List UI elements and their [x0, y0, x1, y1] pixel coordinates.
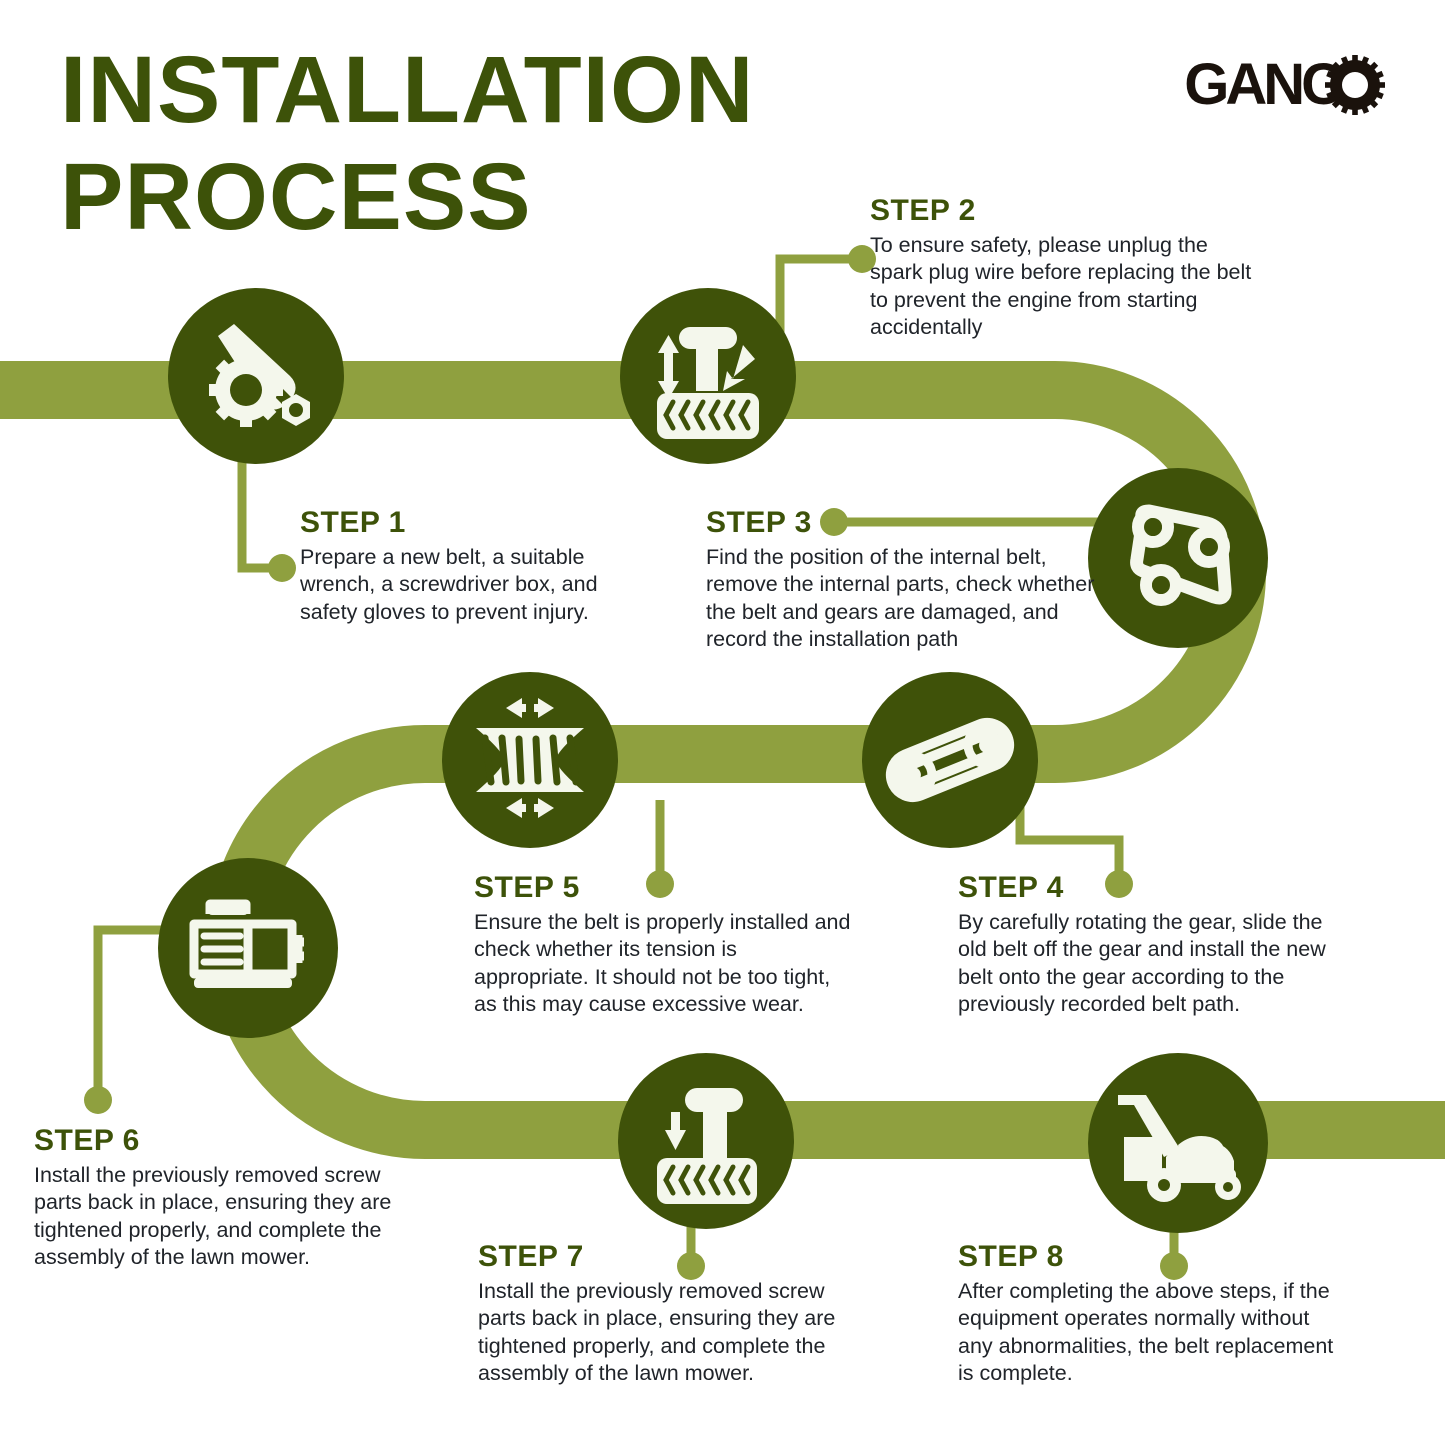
step-2-body: To ensure safety, please unplug the spar… — [870, 232, 1262, 341]
step-7-icon-circle[interactable] — [618, 1053, 794, 1229]
step-3-body: Find the position of the internal belt, … — [706, 544, 1104, 653]
gear-icon — [1323, 53, 1387, 117]
step-5-icon-circle[interactable] — [442, 672, 618, 848]
step-4-text: STEP 4 By carefully rotating the gear, s… — [958, 871, 1348, 1018]
step-6-heading: STEP 6 — [34, 1124, 434, 1158]
infographic-page: INSTALLATION PROCESS GANC — [0, 0, 1445, 1445]
connector-step-1 — [232, 450, 302, 590]
lawn-mower-icon — [1110, 1075, 1246, 1211]
step-6-text: STEP 6 Install the previously removed sc… — [34, 1124, 434, 1271]
step-3-text: STEP 3 Find the position of the internal… — [706, 506, 1104, 653]
title-line-2: PROCESS — [60, 151, 940, 244]
step-1-heading: STEP 1 — [300, 506, 650, 540]
step-8-heading: STEP 8 — [958, 1240, 1348, 1274]
step-5-heading: STEP 5 — [474, 871, 854, 905]
spark-plug-insert-icon — [643, 1078, 769, 1204]
step-6-body: Install the previously removed screw par… — [34, 1162, 434, 1271]
step-8-body: After completing the above steps, if the… — [958, 1278, 1348, 1387]
page-title: INSTALLATION PROCESS — [60, 44, 940, 244]
step-1-body: Prepare a new belt, a suitable wrench, a… — [300, 544, 650, 626]
step-1-text: STEP 1 Prepare a new belt, a suitable wr… — [300, 506, 650, 626]
spark-plug-unplug-icon — [645, 313, 771, 439]
step-6-icon-circle[interactable] — [158, 858, 338, 1038]
step-1-icon-circle[interactable] — [168, 288, 344, 464]
step-7-body: Install the previously removed screw par… — [478, 1278, 873, 1387]
step-5-body: Ensure the belt is properly installed an… — [474, 909, 854, 1018]
title-line-1: INSTALLATION — [60, 44, 940, 137]
step-2-icon-circle[interactable] — [620, 288, 796, 464]
step-8-text: STEP 8 After completing the above steps,… — [958, 1240, 1348, 1387]
step-8-icon-circle[interactable] — [1088, 1053, 1268, 1233]
step-2-text: STEP 2 To ensure safety, please unplug t… — [870, 194, 1262, 341]
brand-logo: GANC — [1184, 52, 1387, 118]
step-4-body: By carefully rotating the gear, slide th… — [958, 909, 1348, 1018]
belt-tension-arrows-icon — [460, 690, 600, 830]
electric-motor-icon — [180, 880, 316, 1016]
step-4-icon-circle[interactable] — [862, 672, 1038, 848]
step-4-heading: STEP 4 — [958, 871, 1348, 905]
belt-routing-three-pulley-icon — [1113, 493, 1243, 623]
step-5-text: STEP 5 Ensure the belt is properly insta… — [474, 871, 854, 1018]
wrench-gear-icon — [194, 314, 318, 438]
step-3-heading: STEP 3 — [706, 506, 1104, 540]
step-2-heading: STEP 2 — [870, 194, 1262, 228]
step-7-text: STEP 7 Install the previously removed sc… — [478, 1240, 873, 1387]
logo-wordmark: GANC — [1184, 56, 1339, 114]
step-3-icon-circle[interactable] — [1088, 468, 1268, 648]
two-pulley-belt-icon — [882, 692, 1018, 828]
step-7-heading: STEP 7 — [478, 1240, 873, 1274]
